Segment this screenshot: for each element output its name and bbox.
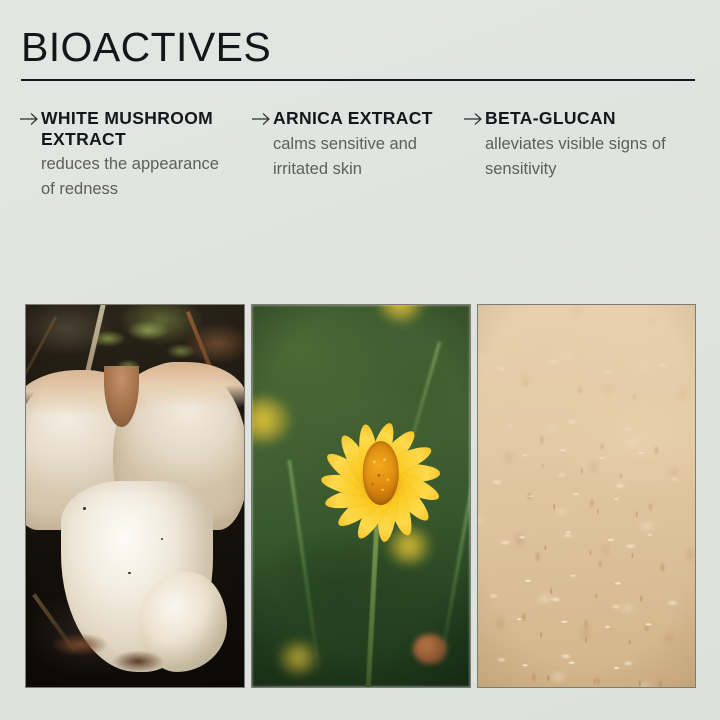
ingredient-body: alleviates visible signs of sensitivity [485, 132, 695, 182]
photo-gallery [0, 304, 720, 688]
arrow-right-icon [463, 112, 485, 126]
page-title: BIOACTIVES [21, 24, 695, 70]
ingredient-heading: WHITE MUSHROOM EXTRACT [41, 108, 219, 149]
photo-vignette [252, 305, 470, 687]
title-divider [21, 79, 695, 81]
photo-vignette [478, 305, 695, 687]
bioactives-infographic: BIOACTIVES WHITE MUSHROOM EXTRACT reduce… [0, 0, 720, 720]
arnica-flower-photo [251, 304, 471, 688]
arrow-right-icon [251, 112, 273, 126]
photo-vignette [26, 305, 244, 687]
ingredient-heading: BETA-GLUCAN [485, 108, 695, 129]
ingredient-body: calms sensitive and irritated skin [273, 132, 456, 182]
header: BIOACTIVES [21, 24, 695, 70]
white-mushroom-photo [25, 304, 245, 688]
ingredient-column-white-mushroom: WHITE MUSHROOM EXTRACT reduces the appea… [19, 108, 219, 202]
arrow-right-icon [19, 112, 41, 126]
beta-glucan-photo [477, 304, 696, 688]
ingredient-columns: WHITE MUSHROOM EXTRACT reduces the appea… [0, 108, 720, 288]
ingredient-body: reduces the appearance of redness [41, 152, 219, 202]
ingredient-column-beta-glucan: BETA-GLUCAN alleviates visible signs of … [463, 108, 695, 182]
ingredient-heading: ARNICA EXTRACT [273, 108, 456, 129]
ingredient-column-arnica: ARNICA EXTRACT calms sensitive and irrit… [251, 108, 456, 182]
